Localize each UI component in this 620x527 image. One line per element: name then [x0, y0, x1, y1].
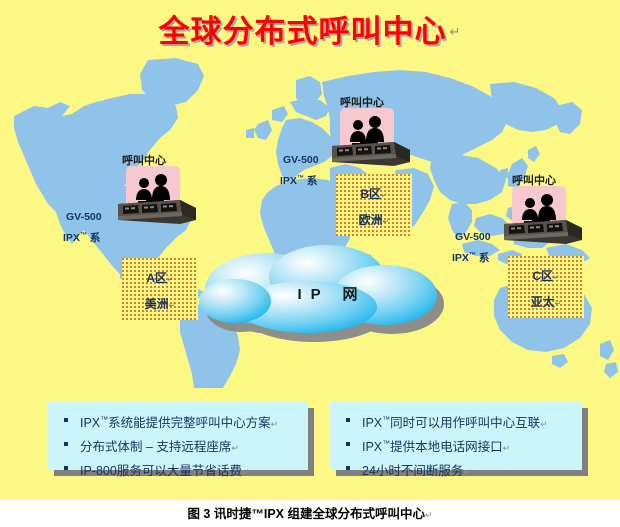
- site-a-zone-box: A区↵ 美洲↵: [122, 258, 198, 320]
- ip-network-cloud: IP 网: [195, 243, 460, 348]
- bullet-left-0-tm: ™: [100, 415, 108, 424]
- features-list-right: IPX™同时可以用作呼叫中心互联↵ IPX™提供本地电话网接口↵ 24小时不间断…: [340, 410, 574, 482]
- site-c-zone-code: C区: [532, 269, 553, 283]
- site-c-zone-text: C区↵ 亚太↵: [508, 264, 584, 316]
- bullet-left-2-pilcrow: ↵: [242, 467, 250, 477]
- features-list-left: IPX™系统能提供完整呼叫中心方案↵ 分布式体制 – 支持远程座席↵ IP-80…: [58, 410, 300, 482]
- page-title: 全球分布式呼叫中心↵: [0, 6, 620, 51]
- site-c-gateway-label: GV-500: [455, 231, 491, 243]
- site-b-gv500-server: [332, 140, 410, 170]
- cloud-label: IP 网: [195, 283, 460, 304]
- site-b-ipx-suffix: 系: [307, 175, 318, 187]
- title-pilcrow: ↵: [450, 24, 462, 39]
- figure-caption: 图 3 讯时捷™IPX 组建全球分布式呼叫中心↵: [0, 503, 620, 522]
- site-c-ipx-suffix: 系: [479, 252, 490, 264]
- bullet-right-1-pilcrow: ↵: [503, 443, 511, 453]
- list-item: 24小时不间断服务↵: [340, 458, 574, 482]
- site-c-ipx-tm: ™: [469, 252, 476, 259]
- site-b-ipx-text: IPX: [280, 175, 297, 187]
- bullet-right-0-tm: ™: [382, 415, 390, 424]
- bullet-left-0-pilcrow: ↵: [271, 419, 279, 429]
- slide-canvas: 全球分布式呼叫中心↵: [0, 0, 620, 500]
- site-a-gv500-server: [118, 198, 196, 228]
- site-c-gv500-server: [504, 218, 582, 248]
- site-c-ipx-label: IPX™ 系: [452, 250, 489, 265]
- bullet-right-2-pilcrow: ↵: [463, 467, 471, 477]
- bullet-right-0-pilcrow: ↵: [540, 419, 548, 429]
- figure-caption-text: 图 3 讯时捷™IPX 组建全球分布式呼叫中心: [187, 507, 425, 521]
- site-a-zone-region: 美洲: [145, 297, 169, 311]
- slide-page: 全球分布式呼叫中心↵: [0, 0, 620, 527]
- site-c-zone-pilcrow-1: ↵: [553, 273, 560, 282]
- site-a-zone-pilcrow-1: ↵: [167, 275, 174, 284]
- site-c-zone-region: 亚太: [531, 295, 555, 309]
- site-b-gateway-label: GV-500: [283, 154, 319, 166]
- site-a-ipx-tm: ™: [80, 232, 87, 239]
- bullet-right-0-pre: IPX: [362, 416, 382, 430]
- site-b-zone-code: B区: [360, 187, 381, 201]
- bullet-right-2-post: 24小时不间断服务: [362, 464, 463, 478]
- bullet-right-0-post: 同时可以用作呼叫中心互联: [390, 416, 540, 430]
- site-b-zone-box: B区↵ 欧洲↵: [336, 174, 412, 236]
- site-b-ipx-label: IPX™ 系: [280, 173, 317, 188]
- bullet-left-1-post: 分布式体制 – 支持远程座席: [80, 440, 231, 454]
- list-item: IPX™系统能提供完整呼叫中心方案↵: [58, 410, 300, 434]
- site-b-zone-pilcrow-2: ↵: [383, 217, 390, 226]
- figure-caption-pilcrow: ↵: [425, 510, 433, 520]
- bullet-left-1-pilcrow: ↵: [231, 443, 239, 453]
- site-a-gateway-label: GV-500: [66, 211, 102, 223]
- list-item: IP-800服务可以大量节省话费↵: [58, 458, 300, 482]
- site-b-ipx-tm: ™: [297, 175, 304, 182]
- bullet-right-1-post: 提供本地电话网接口: [390, 440, 503, 454]
- site-a-ipx-text: IPX: [63, 232, 80, 244]
- features-box-left: IPX™系统能提供完整呼叫中心方案↵ 分布式体制 – 支持远程座席↵ IP-80…: [48, 402, 308, 470]
- bullet-right-1-pre: IPX: [362, 440, 382, 454]
- site-b-zone-pilcrow-1: ↵: [381, 191, 388, 200]
- site-b-zone-text: B区↵ 欧洲↵: [336, 182, 412, 234]
- bullet-right-1-tm: ™: [382, 439, 390, 448]
- site-a-zone-text: A区↵ 美洲↵: [122, 266, 198, 318]
- bullet-left-0-post: 系统能提供完整呼叫中心方案: [108, 416, 271, 430]
- site-a-ipx-label: IPX™ 系: [63, 230, 100, 245]
- site-a-zone-code: A区: [146, 271, 167, 285]
- page-title-text: 全球分布式呼叫中心: [159, 14, 447, 49]
- site-a-zone-pilcrow-2: ↵: [169, 301, 176, 310]
- site-b-zone-region: 欧洲: [359, 213, 383, 227]
- list-item: 分布式体制 – 支持远程座席↵: [58, 434, 300, 458]
- features-box-right: IPX™同时可以用作呼叫中心互联↵ IPX™提供本地电话网接口↵ 24小时不间断…: [330, 402, 582, 470]
- list-item: IPX™同时可以用作呼叫中心互联↵: [340, 410, 574, 434]
- list-item: IPX™提供本地电话网接口↵: [340, 434, 574, 458]
- bullet-left-2-post: IP-800服务可以大量节省话费: [80, 464, 242, 478]
- site-c-zone-box: C区↵ 亚太↵: [508, 256, 584, 318]
- site-c-zone-pilcrow-2: ↵: [555, 299, 562, 308]
- site-c-ipx-text: IPX: [452, 252, 469, 264]
- bullet-left-0-pre: IPX: [80, 416, 100, 430]
- site-a-ipx-suffix: 系: [90, 232, 101, 244]
